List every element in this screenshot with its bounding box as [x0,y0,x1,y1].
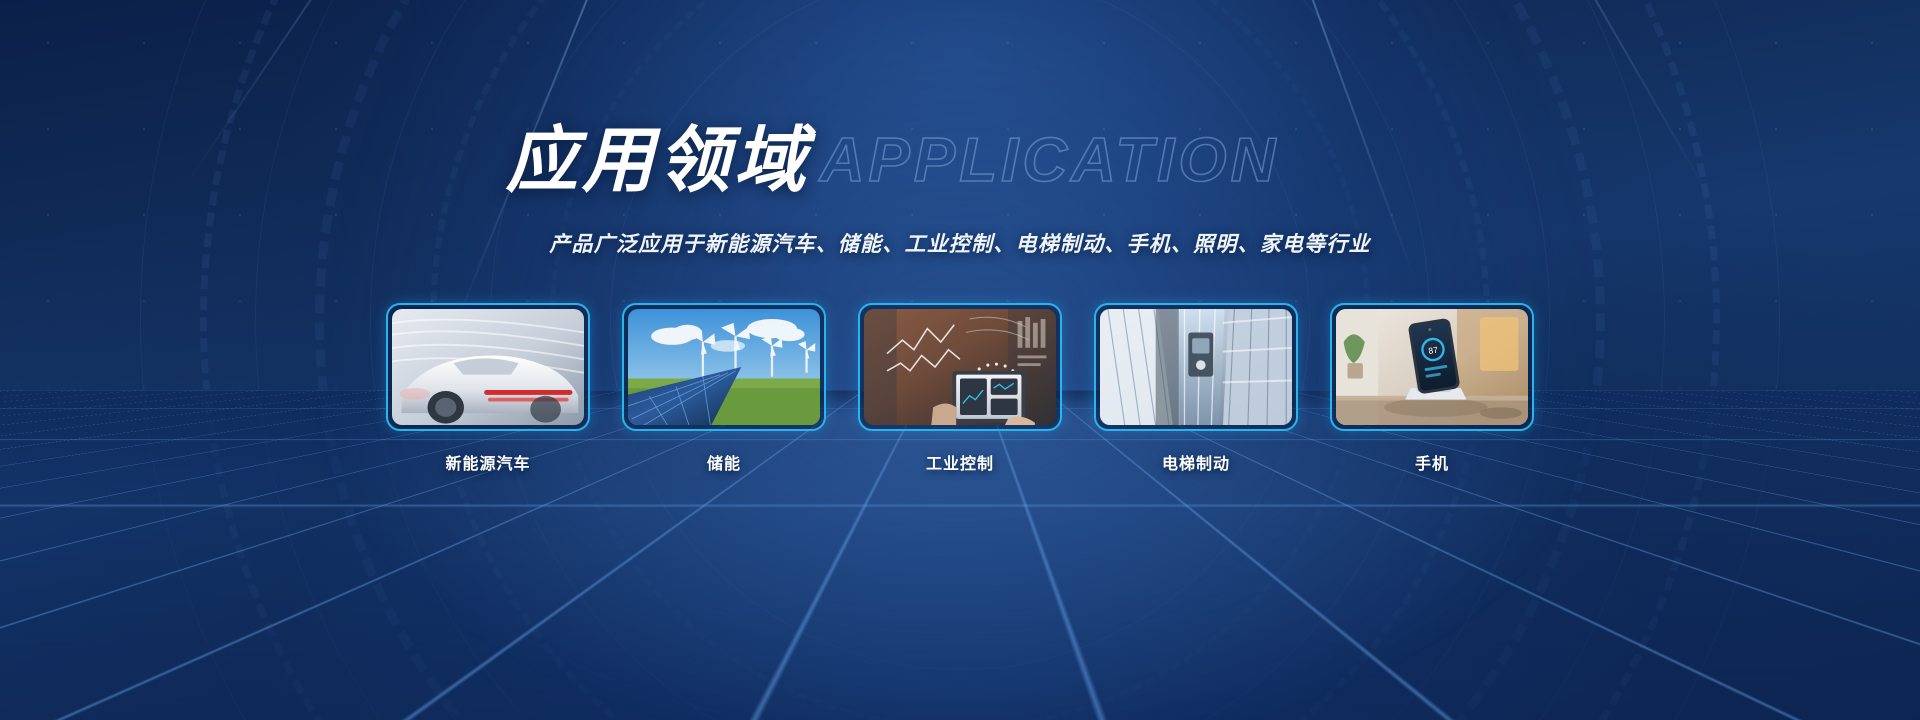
card-frame[interactable] [622,303,826,431]
card-label: 电梯制动 [1094,450,1298,474]
application-card[interactable]: 87 手机 [1330,303,1534,474]
elevator-braking-photo [1100,309,1292,425]
card-label: 新能源汽车 [386,450,590,474]
card-frame[interactable]: 87 [1330,303,1534,431]
svg-text:87: 87 [1428,345,1439,356]
card-frame[interactable] [1094,303,1298,431]
card-frame[interactable] [386,303,590,431]
banner-subtitle: 产品广泛应用于新能源汽车、储能、工业控制、电梯制动、手机、照明、家电等行业 [0,228,1920,258]
card-label: 手机 [1330,450,1534,474]
mobile-phone-photo: 87 [1336,309,1528,425]
title-row: APPLICATION 应用领域 [506,118,1414,204]
application-card[interactable]: 新能源汽车 [386,303,590,474]
card-label: 储能 [622,450,826,474]
application-card[interactable]: 电梯制动 [1094,303,1298,474]
industrial-control-photo [864,309,1056,425]
card-frame[interactable] [858,303,1062,431]
page-title: 应用领域 [506,118,810,204]
application-card[interactable]: 储能 [622,303,826,474]
new-energy-vehicle-photo [392,309,584,425]
title-english-outline: APPLICATION [820,118,1280,204]
energy-storage-photo [628,309,820,425]
application-card-list: 新能源汽车 [0,303,1920,474]
application-card[interactable]: 工业控制 [858,303,1062,474]
application-banner: APPLICATION 应用领域 产品广泛应用于新能源汽车、储能、工业控制、电梯… [0,0,1920,720]
card-label: 工业控制 [858,450,1062,474]
banner-header: APPLICATION 应用领域 产品广泛应用于新能源汽车、储能、工业控制、电梯… [0,118,1920,258]
